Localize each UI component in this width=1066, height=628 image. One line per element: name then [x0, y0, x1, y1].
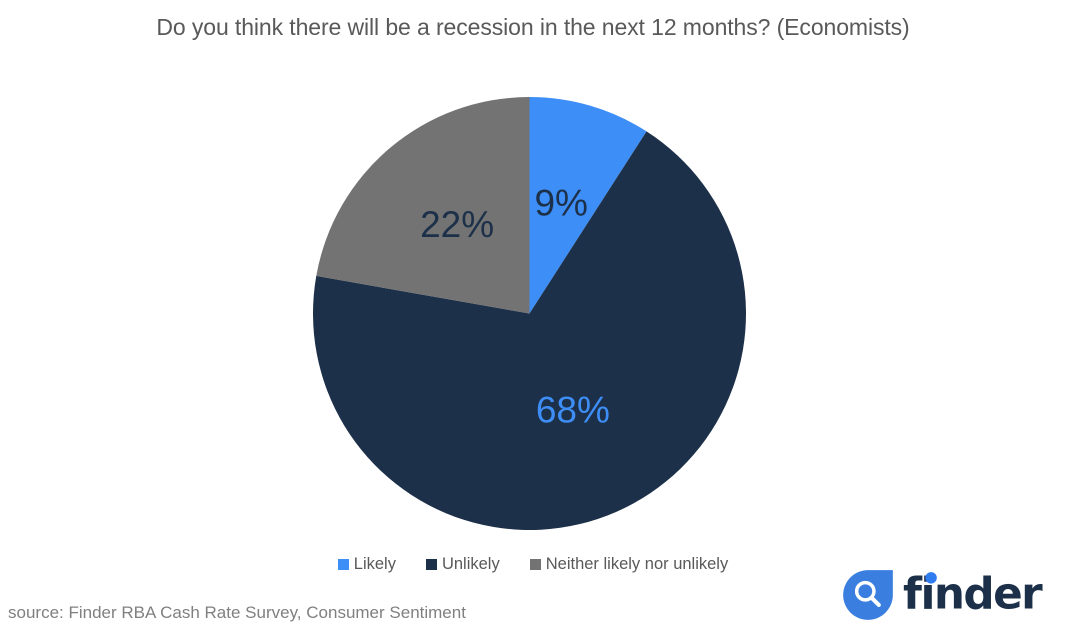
legend-swatch-icon [426, 559, 437, 570]
legend-label: Neither likely nor unlikely [546, 556, 729, 573]
legend-item-likely[interactable]: Likely [338, 556, 396, 573]
legend-swatch-icon [530, 559, 541, 570]
legend-item-neither[interactable]: Neither likely nor unlikely [530, 556, 729, 573]
finder-mark-icon [841, 568, 895, 622]
finder-wordmark: finder [901, 569, 1061, 621]
pie-chart-svg: 9% 68% 22% [313, 97, 746, 530]
brand-dot-icon [925, 572, 936, 583]
legend-swatch-icon [338, 559, 349, 570]
legend-label: Likely [354, 556, 396, 573]
pie-chart: 9% 68% 22% [313, 97, 746, 530]
legend-label: Unlikely [442, 556, 500, 573]
legend-item-unlikely[interactable]: Unlikely [426, 556, 500, 573]
slice-label-unlikely: 68% [536, 389, 610, 430]
chart-title: Do you think there will be a recession i… [0, 14, 1066, 41]
slice-label-likely: 9% [534, 182, 587, 223]
teardrop-shape [843, 570, 893, 620]
pie-slice-group [313, 97, 746, 530]
source-note: source: Finder RBA Cash Rate Survey, Con… [8, 603, 466, 623]
brand-name-text: finder [903, 569, 1043, 620]
wordmark-glyphs: finder [903, 569, 1043, 620]
finder-logo: finder [841, 568, 1061, 622]
slice-label-neither: 22% [420, 204, 494, 245]
